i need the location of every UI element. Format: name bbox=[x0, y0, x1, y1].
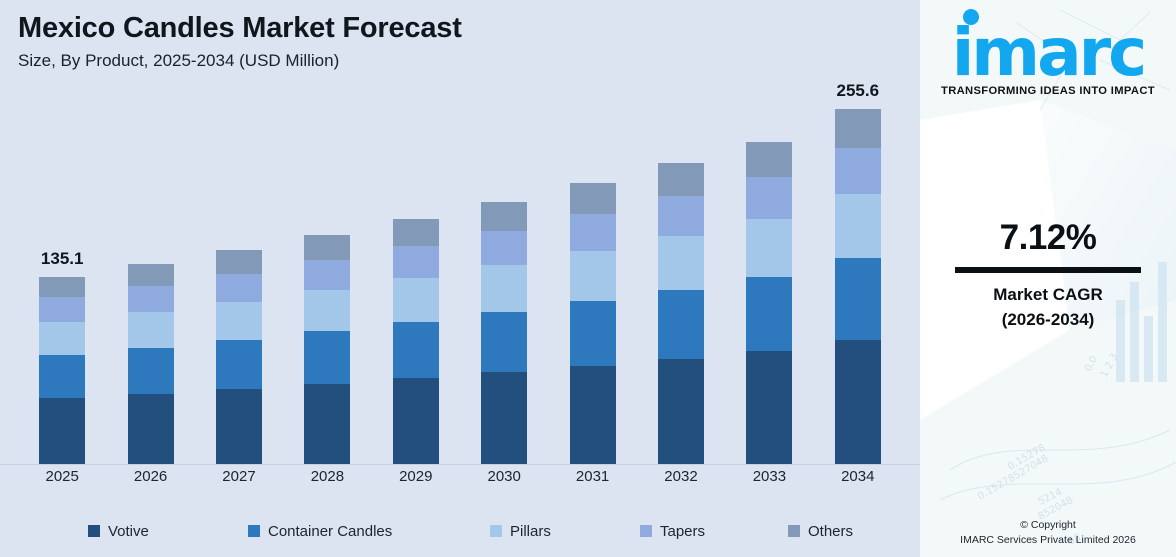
bar-segment-pillars[interactable] bbox=[746, 219, 792, 277]
legend-label: Votive bbox=[108, 523, 149, 540]
bar-stack bbox=[835, 109, 881, 464]
legend-label: Others bbox=[808, 523, 853, 540]
bar-segment-votive[interactable] bbox=[746, 351, 792, 464]
x-axis-tick-2034: 2034 bbox=[814, 468, 902, 485]
x-axis-tick-2033: 2033 bbox=[725, 468, 813, 485]
page-title: Mexico Candles Market Forecast bbox=[18, 12, 920, 44]
bar-segment-votive[interactable] bbox=[658, 359, 704, 464]
bar-group[interactable] bbox=[39, 277, 85, 464]
bar-segment-container-candles[interactable] bbox=[746, 277, 792, 351]
brand-panel: 0.0 1 2 3 0.15278527048 852048 68 5214 0… bbox=[920, 0, 1176, 557]
bar-segment-pillars[interactable] bbox=[481, 265, 527, 312]
bar-segment-others[interactable] bbox=[128, 264, 174, 286]
bar-segment-pillars[interactable] bbox=[304, 290, 350, 331]
bar-segment-tapers[interactable] bbox=[128, 286, 174, 312]
legend-item-pillars[interactable]: Pillars bbox=[490, 523, 551, 540]
axis-baseline bbox=[0, 464, 920, 465]
bar-segment-tapers[interactable] bbox=[216, 274, 262, 302]
bar-series-container: 135.1255.6 bbox=[0, 95, 920, 464]
legend-swatch-icon bbox=[640, 525, 652, 537]
bar-value-label: 135.1 bbox=[41, 249, 84, 269]
bar-segment-votive[interactable] bbox=[481, 372, 527, 464]
bar-segment-others[interactable] bbox=[393, 219, 439, 246]
logo-dot-icon bbox=[963, 9, 979, 25]
bar-segment-tapers[interactable] bbox=[393, 246, 439, 278]
bar-group[interactable] bbox=[658, 163, 704, 464]
cagr-value: 7.12% bbox=[1000, 218, 1097, 258]
bar-segment-others[interactable] bbox=[835, 109, 881, 148]
bar-stack bbox=[128, 264, 174, 464]
x-axis-tick-2032: 2032 bbox=[637, 468, 725, 485]
bar-segment-tapers[interactable] bbox=[304, 260, 350, 290]
legend-item-votive[interactable]: Votive bbox=[88, 523, 149, 540]
bar-group[interactable] bbox=[746, 142, 792, 464]
cagr-label-line2: (2026-2034) bbox=[993, 308, 1103, 333]
legend-swatch-icon bbox=[248, 525, 260, 537]
legend-label: Pillars bbox=[510, 523, 551, 540]
bar-group[interactable] bbox=[570, 183, 616, 464]
bar-segment-container-candles[interactable] bbox=[39, 355, 85, 398]
bar-segment-tapers[interactable] bbox=[570, 214, 616, 251]
x-axis-tick-2025: 2025 bbox=[18, 468, 106, 485]
legend-swatch-icon bbox=[788, 525, 800, 537]
logo-text: imarc bbox=[952, 14, 1145, 91]
bar-segment-votive[interactable] bbox=[393, 378, 439, 464]
bar-segment-others[interactable] bbox=[39, 277, 85, 298]
cagr-block: 7.12% Market CAGR (2026-2034) bbox=[920, 218, 1176, 332]
bar-group[interactable] bbox=[128, 264, 174, 464]
legend-swatch-icon bbox=[88, 525, 100, 537]
copyright-line1: © Copyright bbox=[920, 518, 1176, 534]
bar-stack bbox=[746, 142, 792, 464]
bar-segment-pillars[interactable] bbox=[835, 194, 881, 258]
bar-stack bbox=[39, 277, 85, 464]
bar-group[interactable] bbox=[835, 109, 881, 464]
bar-segment-votive[interactable] bbox=[216, 389, 262, 464]
copyright-line2: IMARC Services Private Limited 2026 bbox=[920, 533, 1176, 549]
bar-segment-tapers[interactable] bbox=[835, 148, 881, 194]
bar-segment-pillars[interactable] bbox=[128, 312, 174, 348]
bar-segment-others[interactable] bbox=[570, 183, 616, 214]
bar-value-label: 255.6 bbox=[837, 81, 880, 101]
bar-group[interactable] bbox=[481, 202, 527, 464]
bar-segment-pillars[interactable] bbox=[393, 278, 439, 322]
bar-group[interactable] bbox=[304, 235, 350, 464]
x-axis-tick-2027: 2027 bbox=[195, 468, 283, 485]
bar-segment-container-candles[interactable] bbox=[570, 301, 616, 366]
bar-segment-votive[interactable] bbox=[835, 340, 881, 464]
x-axis-tick-2028: 2028 bbox=[283, 468, 371, 485]
legend-label: Container Candles bbox=[268, 523, 392, 540]
bar-segment-pillars[interactable] bbox=[216, 302, 262, 340]
bar-segment-votive[interactable] bbox=[570, 366, 616, 464]
bar-segment-pillars[interactable] bbox=[39, 322, 85, 356]
title-block: Mexico Candles Market Forecast Size, By … bbox=[0, 0, 920, 72]
bar-segment-tapers[interactable] bbox=[481, 231, 527, 265]
cagr-label-line1: Market CAGR bbox=[993, 283, 1103, 308]
bar-segment-others[interactable] bbox=[304, 235, 350, 260]
plot-area: 135.1255.6 bbox=[0, 95, 920, 465]
legend-swatch-icon bbox=[490, 525, 502, 537]
x-axis: 2025202620272028202920302031203220332034 bbox=[0, 468, 920, 494]
bar-segment-container-candles[interactable] bbox=[216, 340, 262, 389]
x-axis-tick-2031: 2031 bbox=[548, 468, 636, 485]
chart-legend: VotiveContainer CandlesPillarsTapersOthe… bbox=[0, 515, 920, 547]
bar-stack bbox=[393, 219, 439, 464]
bar-segment-container-candles[interactable] bbox=[304, 331, 350, 384]
legend-item-others[interactable]: Others bbox=[788, 523, 853, 540]
bar-group[interactable] bbox=[216, 250, 262, 464]
bar-segment-pillars[interactable] bbox=[658, 236, 704, 290]
bar-segment-others[interactable] bbox=[658, 163, 704, 196]
legend-label: Tapers bbox=[660, 523, 705, 540]
bar-stack bbox=[481, 202, 527, 464]
bar-segment-container-candles[interactable] bbox=[481, 312, 527, 372]
legend-item-tapers[interactable]: Tapers bbox=[640, 523, 705, 540]
bar-segment-votive[interactable] bbox=[304, 384, 350, 464]
imarc-logo: imarc TRANSFORMING IDEAS INTO IMPACT bbox=[920, 8, 1176, 112]
bar-stack bbox=[216, 250, 262, 464]
chart-screenshot: Mexico Candles Market Forecast Size, By … bbox=[0, 0, 1176, 557]
bar-segment-others[interactable] bbox=[746, 142, 792, 177]
logo-wordmark: imarc bbox=[952, 23, 1145, 84]
bar-stack bbox=[570, 183, 616, 464]
bar-segment-others[interactable] bbox=[216, 250, 262, 273]
bar-segment-tapers[interactable] bbox=[658, 196, 704, 235]
x-axis-tick-2026: 2026 bbox=[106, 468, 194, 485]
bar-stack bbox=[304, 235, 350, 464]
bar-segment-tapers[interactable] bbox=[746, 177, 792, 219]
bar-segment-votive[interactable] bbox=[39, 398, 85, 464]
copyright: © Copyright IMARC Services Private Limit… bbox=[920, 518, 1176, 550]
x-axis-tick-2029: 2029 bbox=[372, 468, 460, 485]
legend-item-container-candles[interactable]: Container Candles bbox=[248, 523, 392, 540]
page-subtitle: Size, By Product, 2025-2034 (USD Million… bbox=[18, 51, 920, 71]
bar-segment-container-candles[interactable] bbox=[393, 322, 439, 378]
bar-segment-tapers[interactable] bbox=[39, 297, 85, 321]
bar-segment-others[interactable] bbox=[481, 202, 527, 231]
chart-panel: Mexico Candles Market Forecast Size, By … bbox=[0, 0, 920, 557]
bar-stack bbox=[658, 163, 704, 464]
cagr-label: Market CAGR (2026-2034) bbox=[993, 283, 1103, 332]
bar-group[interactable] bbox=[393, 219, 439, 464]
x-axis-tick-2030: 2030 bbox=[460, 468, 548, 485]
bar-segment-container-candles[interactable] bbox=[835, 258, 881, 340]
bar-segment-container-candles[interactable] bbox=[128, 348, 174, 394]
bar-segment-votive[interactable] bbox=[128, 394, 174, 464]
bar-segment-pillars[interactable] bbox=[570, 251, 616, 301]
bar-segment-container-candles[interactable] bbox=[658, 290, 704, 359]
cagr-divider bbox=[955, 267, 1141, 273]
